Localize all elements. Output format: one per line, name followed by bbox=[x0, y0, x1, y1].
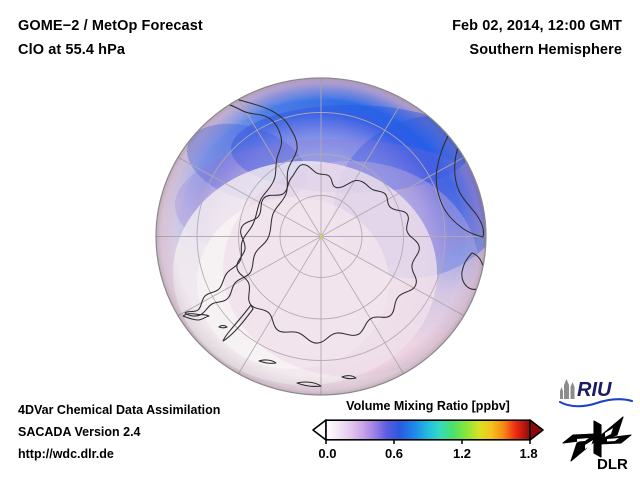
dlr-wordmark: DLR bbox=[597, 456, 628, 473]
figure-title-species: ClO at 55.4 hPa bbox=[18, 42, 125, 58]
globe-svg bbox=[155, 77, 487, 396]
figure-datetime: Feb 02, 2014, 12:00 GMT bbox=[452, 18, 622, 34]
figure-canvas: GOME−2 / MetOp Forecast ClO at 55.4 hPa … bbox=[0, 0, 640, 480]
riu-chimney-icon bbox=[560, 379, 575, 399]
colorbar-tick-label: 1.2 bbox=[453, 446, 471, 461]
colorbar-tick-label: 0.6 bbox=[385, 446, 403, 461]
footer-method: 4DVar Chemical Data Assimilation bbox=[18, 403, 220, 417]
colorbar-left-cap-icon bbox=[313, 420, 326, 440]
colorbar: Volume Mixing Ratio [ppbv] 0.00.61.21.8 bbox=[312, 399, 544, 464]
riu-logo: RIU bbox=[557, 373, 635, 409]
colorbar-gradient bbox=[326, 420, 530, 440]
colorbar-tick-labels: 0.00.61.21.8 bbox=[312, 446, 544, 464]
limb-shading bbox=[156, 78, 486, 395]
globe-map bbox=[155, 77, 487, 396]
dlr-logo: DLR bbox=[561, 411, 637, 473]
colorbar-swatch bbox=[312, 418, 544, 444]
dlr-pinwheel-icon bbox=[563, 417, 631, 461]
riu-wordmark: RIU bbox=[577, 379, 612, 401]
dlr-logo-svg: DLR bbox=[561, 411, 637, 473]
footer-url[interactable]: http://wdc.dlr.de bbox=[18, 447, 114, 461]
colorbar-tick-label: 1.8 bbox=[520, 446, 538, 461]
figure-region: Southern Hemisphere bbox=[469, 42, 622, 58]
figure-title-instrument: GOME−2 / MetOp Forecast bbox=[18, 18, 203, 34]
colorbar-tick-label: 0.0 bbox=[318, 446, 336, 461]
colorbar-right-cap-icon bbox=[530, 420, 543, 440]
riu-logo-svg: RIU bbox=[557, 373, 635, 409]
footer-version: SACADA Version 2.4 bbox=[18, 425, 141, 439]
colorbar-title: Volume Mixing Ratio [ppbv] bbox=[312, 399, 544, 413]
